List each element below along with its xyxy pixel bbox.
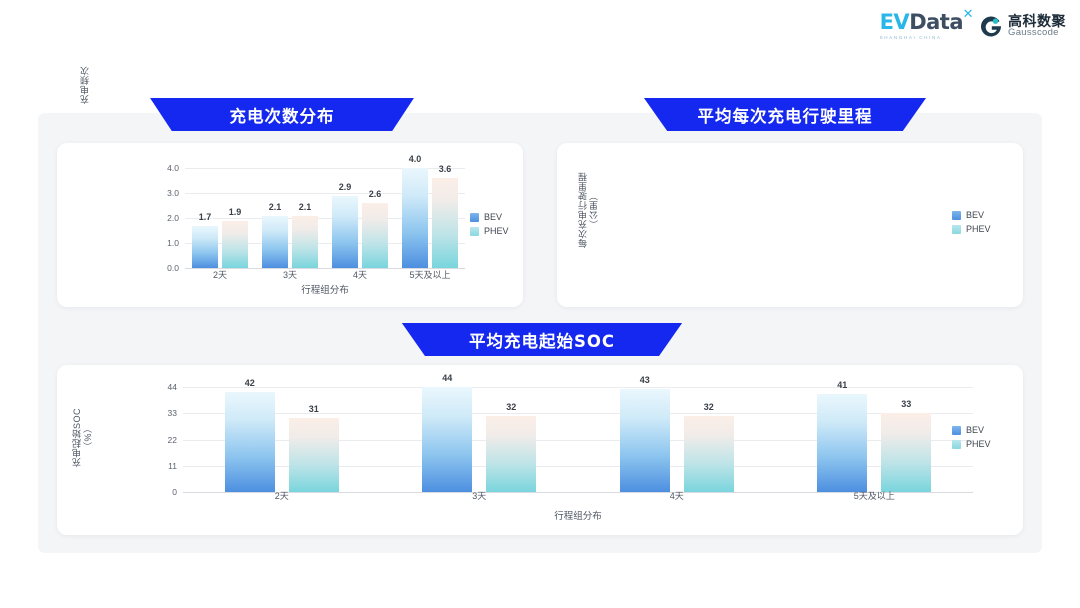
bar-bev-avg-start-soc bbox=[817, 394, 867, 492]
bar-value-label: 42 bbox=[217, 378, 283, 388]
y-axis-tick: 22 bbox=[149, 435, 177, 445]
legend-swatch-bev-icon bbox=[952, 426, 961, 435]
bar-value-label: 31 bbox=[281, 404, 347, 414]
legend: BEVPHEV bbox=[952, 425, 991, 449]
y-axis-tick: 33 bbox=[149, 408, 177, 418]
x-axis-label: 行程组分布 bbox=[518, 508, 638, 522]
bar-value-label: 33 bbox=[873, 399, 939, 409]
bar-value-label: 44 bbox=[414, 373, 480, 383]
bar-phev-avg-start-soc bbox=[289, 418, 339, 492]
x-axis-tick: 3天 bbox=[439, 489, 519, 502]
y-axis-tick: 0 bbox=[149, 487, 177, 497]
y-axis-label: （%） bbox=[81, 392, 94, 482]
legend-label-phev: PHEV bbox=[966, 439, 991, 449]
bar-value-label: 41 bbox=[809, 380, 875, 390]
y-axis-tick: 11 bbox=[149, 461, 177, 471]
bar-phev-avg-start-soc bbox=[881, 413, 931, 492]
slide-root: EVData ✕ SHANGHAI CHINA 高科数聚 Gausscode 充… bbox=[0, 0, 1080, 608]
x-axis-tick: 4天 bbox=[637, 489, 717, 502]
legend-label-bev: BEV bbox=[966, 425, 984, 435]
bar-value-label: 32 bbox=[676, 402, 742, 412]
bar-value-label: 43 bbox=[612, 375, 678, 385]
chart-title-banner-2: 平均每次充电行驶里程 bbox=[630, 98, 940, 131]
chart-title-1: 充电次数分布 bbox=[230, 103, 335, 127]
x-axis-tick: 5天及以上 bbox=[834, 489, 914, 502]
chart-title-3: 平均充电起始SOC bbox=[469, 328, 615, 352]
legend-swatch-phev-icon bbox=[952, 440, 961, 449]
y-axis-tick: 44 bbox=[149, 382, 177, 392]
bar-bev-avg-start-soc bbox=[620, 389, 670, 492]
bar-bev-avg-start-soc bbox=[422, 387, 472, 492]
x-axis-tick: 2天 bbox=[242, 489, 322, 502]
bar-value-label: 32 bbox=[478, 402, 544, 412]
bar-phev-avg-start-soc bbox=[684, 416, 734, 492]
chart-title-banner-3: 平均充电起始SOC bbox=[388, 323, 696, 356]
bar-phev-avg-start-soc bbox=[486, 416, 536, 492]
bar-bev-avg-start-soc bbox=[225, 392, 275, 492]
chart-title-banner-1: 充电次数分布 bbox=[137, 98, 427, 131]
chart-title-2: 平均每次充电行驶里程 bbox=[698, 103, 873, 127]
legend-item-bev[interactable]: BEV bbox=[952, 425, 991, 435]
plot-avg-start-soc: 011223344充电起始SOC（%）42312天44323天43324天413… bbox=[0, 0, 1080, 608]
legend-item-phev[interactable]: PHEV bbox=[952, 439, 991, 449]
